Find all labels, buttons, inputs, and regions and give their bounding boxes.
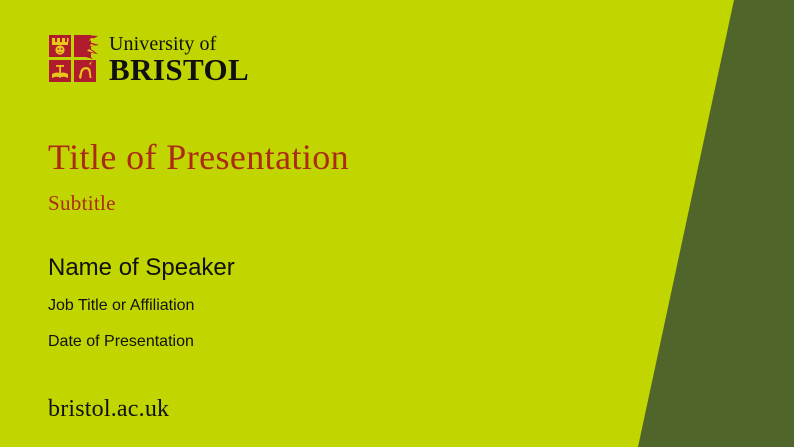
university-logo: University of BRISTOL [48,33,249,85]
presentation-subtitle: Subtitle [48,191,116,216]
bristol-crest-icon [48,33,100,85]
diagonal-accent-shape [594,0,794,447]
presentation-title: Title of Presentation [48,136,349,178]
logo-bristol-text: BRISTOL [109,55,249,85]
speaker-name: Name of Speaker [48,254,235,282]
footer-url: bristol.ac.uk [48,396,169,423]
logo-university-text: University of [109,34,249,54]
logo-wordmark: University of BRISTOL [109,34,249,85]
presentation-date: Date of Presentation [48,333,194,351]
title-slide: University of BRISTOL Title of Presentat… [0,0,794,447]
speaker-role: Job Title or Affiliation [48,297,194,315]
